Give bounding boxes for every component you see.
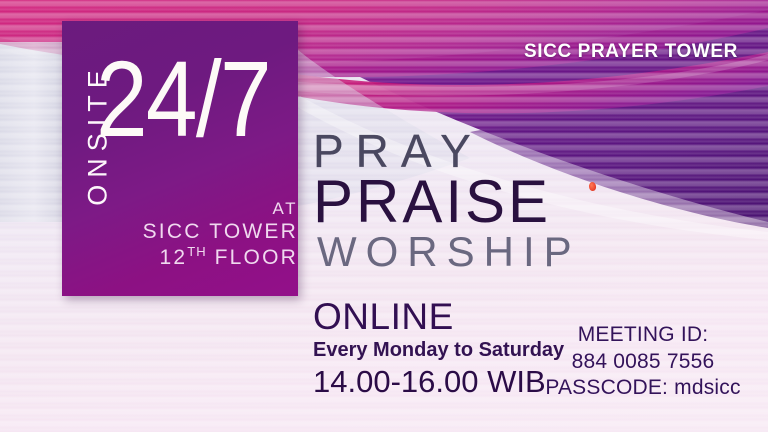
onsite-floor-ordinal: TH xyxy=(187,244,206,259)
online-time: 14.00-16.00 WIB xyxy=(313,364,564,400)
headline-block: PRAY PRAISE WORSHIP xyxy=(313,128,581,274)
online-days: Every Monday to Saturday xyxy=(313,337,564,364)
headline-line-worship: WORSHIP xyxy=(317,230,581,274)
onsite-card: ONSITE 24/7 AT SICC TOWER 12TH FLOOR xyxy=(62,21,298,296)
meeting-passcode: PASSCODE: mdsicc xyxy=(532,375,754,402)
meeting-credentials-block: MEETING ID: 884 0085 7556 PASSCODE: mdsi… xyxy=(532,322,754,402)
onsite-venue-floor: 12TH FLOOR xyxy=(72,244,298,270)
onsite-24-7-number: 24/7 xyxy=(96,45,268,153)
onsite-floor-number: 12 xyxy=(159,246,187,269)
online-schedule-block: ONLINE Every Monday to Saturday 14.00-16… xyxy=(313,298,564,399)
onsite-floor-suffix: FLOOR xyxy=(207,246,298,269)
headline-line-praise: PRAISE xyxy=(313,171,581,232)
meeting-id-value: 884 0085 7556 xyxy=(532,349,754,376)
onsite-venue-address: AT SICC TOWER 12TH FLOOR xyxy=(72,199,312,270)
online-label: ONLINE xyxy=(313,298,564,337)
meeting-id-label: MEETING ID: xyxy=(532,322,754,349)
onsite-at-label: AT xyxy=(72,199,298,219)
prayer-tower-poster: SICC PRAYER TOWER ONSITE 24/7 AT SICC TO… xyxy=(0,0,768,432)
page-title: SICC PRAYER TOWER xyxy=(524,41,738,63)
onsite-venue-name: SICC TOWER xyxy=(72,219,298,244)
